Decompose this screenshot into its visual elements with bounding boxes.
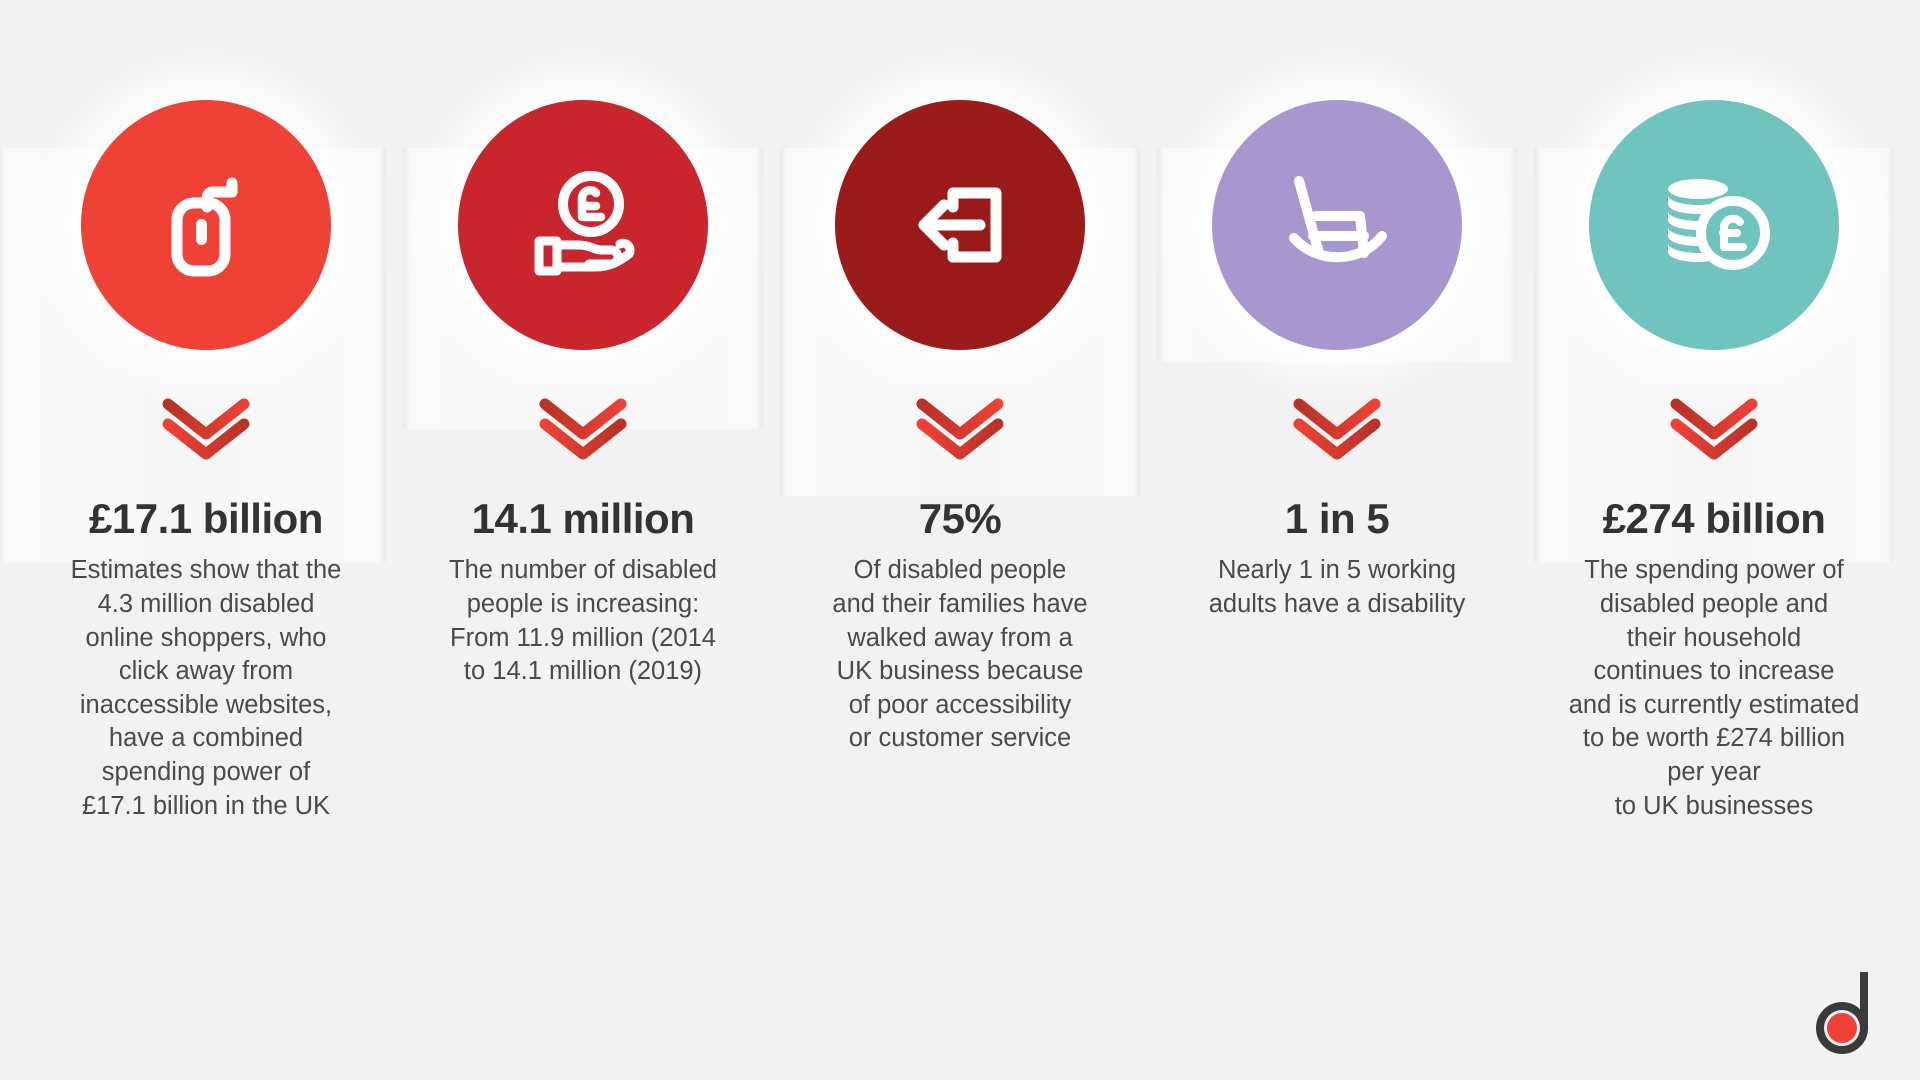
stat-value: £274 billion bbox=[1603, 496, 1826, 542]
exit-logout-arrow-icon bbox=[898, 163, 1022, 287]
stat-column-walked-away: 75% Of disabled people and their familie… bbox=[772, 0, 1148, 756]
double-chevron-down-icon bbox=[1291, 396, 1383, 460]
stat-value: £17.1 billion bbox=[89, 496, 323, 542]
computer-mouse-icon bbox=[146, 165, 266, 285]
icon-disc-wrapper bbox=[458, 100, 708, 350]
double-chevron-down-icon bbox=[537, 396, 629, 460]
stat-value: 1 in 5 bbox=[1285, 496, 1389, 542]
stat-value: 14.1 million bbox=[472, 496, 695, 542]
icon-disc-wrapper bbox=[835, 100, 1085, 350]
stat-value: 75% bbox=[919, 496, 1002, 542]
stat-description: Estimates show that the 4.3 million disa… bbox=[41, 554, 371, 823]
stat-description: The spending power of disabled people an… bbox=[1549, 554, 1879, 823]
stat-column-household-spending-power: £274 billion The spending power of disab… bbox=[1526, 0, 1902, 823]
icon-disc bbox=[458, 100, 708, 350]
icon-disc bbox=[1212, 100, 1462, 350]
icon-disc bbox=[81, 100, 331, 350]
rocking-chair-icon bbox=[1272, 160, 1402, 290]
icon-disc bbox=[1589, 100, 1839, 350]
stat-description: Of disabled people and their families ha… bbox=[795, 554, 1125, 756]
infographic-board: £17.1 billion Estimates show that the 4.… bbox=[0, 0, 1920, 1080]
stat-description: Nearly 1 in 5 working adults have a disa… bbox=[1172, 554, 1502, 621]
double-chevron-down-icon bbox=[914, 396, 1006, 460]
icon-disc-wrapper bbox=[1589, 100, 1839, 350]
double-chevron-down-icon bbox=[160, 396, 252, 460]
stat-description: The number of disabled people is increas… bbox=[418, 554, 748, 689]
stat-column-working-adults: 1 in 5 Nearly 1 in 5 working adults have… bbox=[1149, 0, 1525, 622]
stat-column-spending-power-online: £17.1 billion Estimates show that the 4.… bbox=[18, 0, 394, 823]
icon-disc-wrapper bbox=[1212, 100, 1462, 350]
icon-disc bbox=[835, 100, 1085, 350]
stacked-coins-pound-icon bbox=[1650, 161, 1778, 289]
d-logo bbox=[1812, 972, 1876, 1058]
double-chevron-down-icon bbox=[1668, 396, 1760, 460]
stat-column-disabled-population: 14.1 million The number of disabled peop… bbox=[395, 0, 771, 689]
icon-disc-wrapper bbox=[81, 100, 331, 350]
hand-holding-pound-coin-icon bbox=[517, 159, 649, 291]
